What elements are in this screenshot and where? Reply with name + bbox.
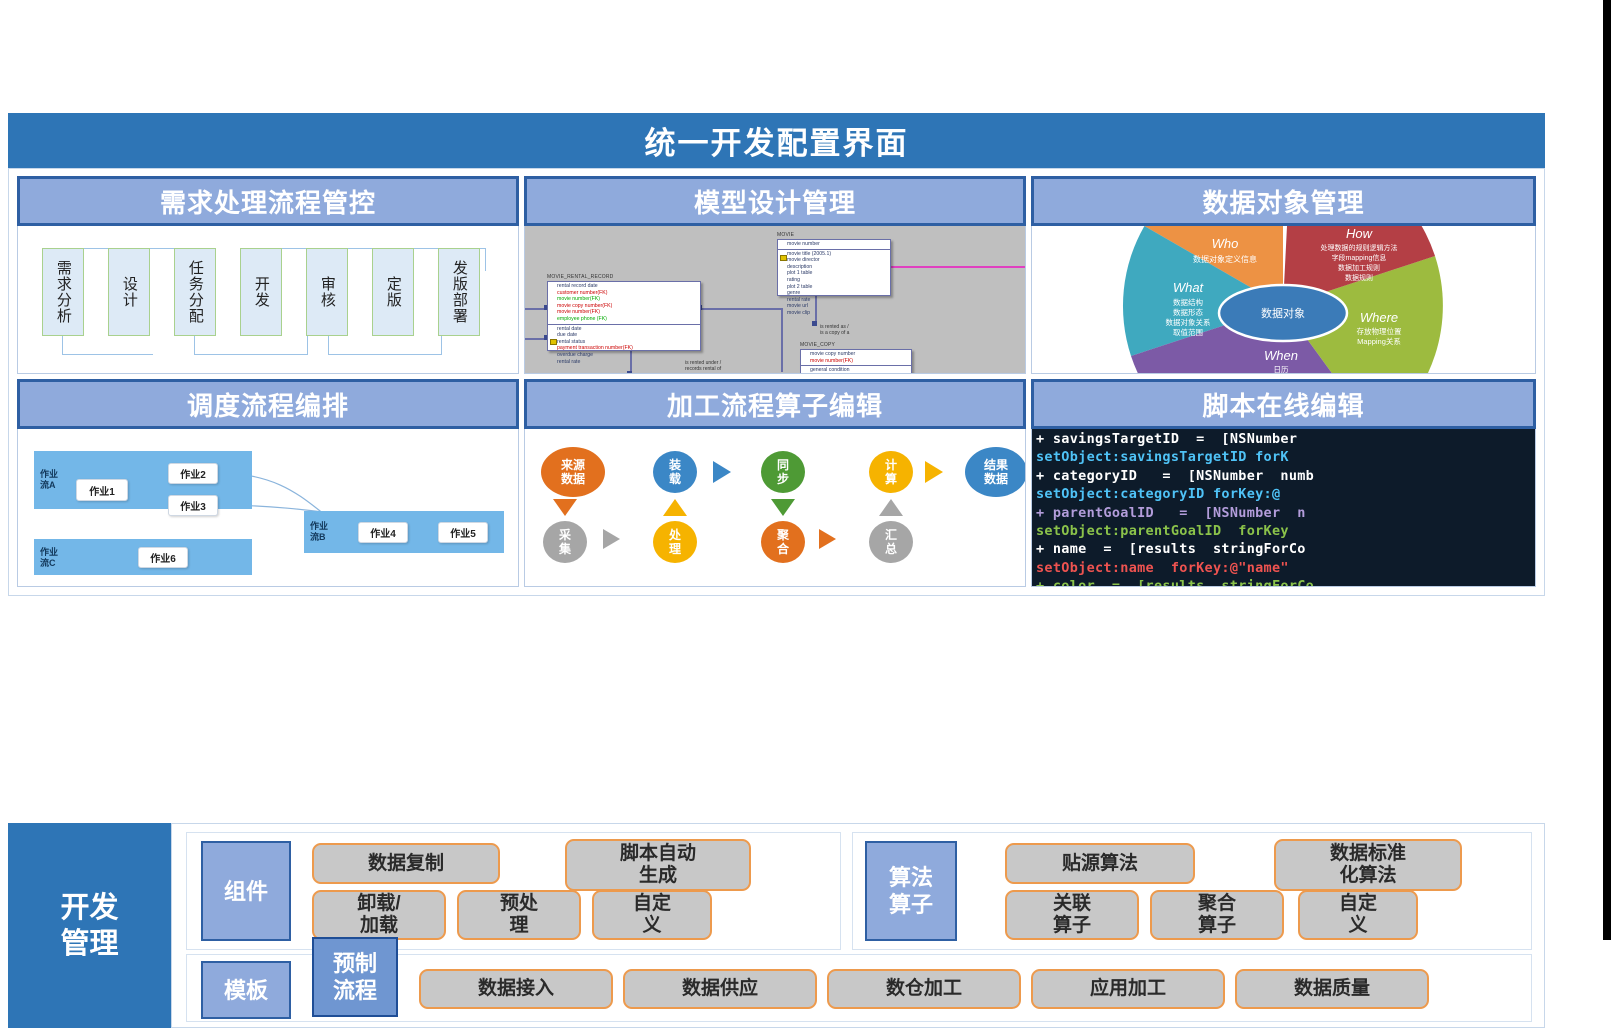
chip-data-ingest[interactable]: 数据接入 (419, 969, 613, 1009)
donut-label-what: What (1173, 280, 1205, 295)
op-arrow-right-yellow (925, 461, 943, 483)
chip-preprocess-label: 预处 理 (500, 893, 538, 937)
er-table-2-caption: MOVIE_COPY (800, 342, 835, 348)
chip-warehouse-process[interactable]: 数仓加工 (827, 969, 1021, 1009)
section-template: 模板 预制 流程 数据接入 数据供应 数仓加工 应用加工 数据 (186, 954, 1532, 1022)
category-algorithm[interactable]: 算法 算子 (865, 841, 957, 941)
chip-preprocess[interactable]: 预处 理 (457, 890, 581, 940)
flow-step-4-label: 审核 (319, 276, 335, 308)
donut-sub-what-2: 数据对象关系 (1166, 317, 1211, 327)
panel-script-edit[interactable]: 脚本在线编辑 + savingsTargetID = [NSNumber set… (1031, 379, 1536, 587)
panel-schedule-body: 作业 流A 作业1 作业2 作业3 作业 流B 作业4 作业5 作业 流C 作业… (17, 429, 519, 587)
donut-label-when: When (1264, 348, 1298, 363)
flow-step-3-label: 开发 (253, 276, 269, 308)
er-t0-f1: due date (548, 332, 700, 339)
code-line-8: + color = [results stringForCo (1032, 576, 1535, 586)
er-table-2[interactable]: movie copy number movie number(FK) gener… (800, 349, 912, 374)
chip-custom-operator[interactable]: 自定 义 (1298, 890, 1418, 940)
op-arrow-right-gray (603, 529, 620, 549)
donut-sub-how-3: 数据规则 (1345, 273, 1373, 282)
er-t0-k4: movie number(FK) (548, 309, 700, 316)
category-component-label: 组件 (224, 878, 268, 905)
job-flow-a-label: 作业 流A (40, 469, 58, 491)
panel-operator-edit-body: 来源 数据 装 载 同 步 计 算 结果 数据 采 集 处 理 聚 合 汇 总 (524, 429, 1026, 587)
er-t0-f4: overdue charge (548, 352, 700, 359)
flow-step-0[interactable]: 需求分析 (42, 248, 84, 336)
chip-warehouse-process-label: 数仓加工 (886, 978, 962, 1000)
er-table-1-caption: MOVIE (777, 232, 794, 238)
job-flow-b-label: 作业 流B (310, 521, 328, 543)
panel-model-design-title: 模型设计管理 (694, 183, 856, 220)
er-t1-f8: movie url (778, 303, 890, 310)
section-algorithm: 算法 算子 贴源算法 数据标准 化算法 关联 算子 聚合 算子 自定 义 (852, 832, 1532, 950)
page-title: 统一开发配置界面 (645, 118, 909, 163)
category-preset-flow-label: 预制 流程 (333, 950, 377, 1004)
chip-script-autogen-label: 脚本自动 生成 (620, 843, 696, 887)
category-template-label: 模板 (224, 977, 268, 1004)
panel-requirement-title: 需求处理流程管控 (160, 183, 376, 220)
job-flow-a[interactable] (34, 451, 252, 509)
unified-dev-config-frame: 统一开发配置界面 需求处理流程管控 (8, 113, 1545, 817)
op-node-summarize[interactable]: 汇 总 (869, 521, 913, 563)
panel-model-design-header: 模型设计管理 (524, 176, 1026, 226)
flow-step-6[interactable]: 发版部署 (438, 248, 480, 336)
op-node-process[interactable]: 处 理 (653, 521, 697, 563)
donut-label-how: How (1346, 226, 1374, 241)
op-arrow-down-green (771, 499, 795, 516)
page-title-bar: 统一开发配置界面 (8, 113, 1545, 168)
chip-app-process[interactable]: 应用加工 (1031, 969, 1225, 1009)
category-preset-flow[interactable]: 预制 流程 (312, 937, 398, 1017)
panel-requirement-body: 需求分析 设计 任务分配 开发 审核 定版 发版部署 (17, 226, 519, 374)
chip-standardize-algo[interactable]: 数据标准 化算法 (1274, 839, 1462, 891)
panel-requirement-header: 需求处理流程管控 (17, 176, 519, 226)
panel-schedule[interactable]: 调度流程编排 作业 流A 作业1 作业2 (17, 379, 519, 587)
er-t0-k1: customer number(FK) (548, 290, 700, 297)
er-t0-f0: rental date (548, 326, 700, 333)
code-line-7: setObject:name forKey:@"name" (1032, 558, 1535, 576)
section-component: 组件 数据复制 脚本自动 生成 卸载/ 加载 预处 理 自定 义 (186, 832, 841, 950)
flow-step-0-label: 需求分析 (55, 260, 71, 324)
right-black-bar (1603, 0, 1611, 940)
donut-center-label: 数据对象 (1261, 306, 1305, 320)
panel-schedule-title: 调度流程编排 (187, 386, 349, 423)
chip-source-algo[interactable]: 贴源算法 (1005, 843, 1195, 884)
job-node-3[interactable]: 作业3 (168, 495, 218, 516)
panel-data-object-title: 数据对象管理 (1202, 183, 1364, 220)
op-node-aggregate[interactable]: 聚 合 (761, 521, 805, 563)
er-note-0: is rented as / is a copy of a (820, 324, 849, 336)
donut-sub-when-0: 日历 (1274, 365, 1290, 374)
panel-requirement[interactable]: 需求处理流程管控 需求分析 设计 (17, 176, 519, 374)
chip-custom-operator-label: 自定 义 (1339, 893, 1377, 937)
donut-sub-how-1: 字段mapping信息 (1332, 253, 1387, 262)
chip-unload-load-label: 卸载/ 加载 (357, 893, 400, 937)
flow-step-5-label: 定版 (385, 276, 401, 308)
chip-custom-component-label: 自定 义 (633, 893, 671, 937)
panel-row-1: 需求处理流程管控 需求分析 设计 (17, 176, 1536, 374)
op-node-load[interactable]: 装 载 (653, 451, 697, 493)
panel-row-2: 调度流程编排 作业 流A 作业1 作业2 (17, 379, 1536, 587)
donut-sub-where-0: 存放物理位置 (1357, 326, 1402, 336)
er-t1-f3: plot 1 table (778, 270, 890, 277)
er-table-0-caption: MOVIE_RENTAL_RECORD (547, 274, 614, 280)
code-line-1: setObject:savingsTargetID forK (1032, 447, 1535, 465)
er-t0-k3: movie copy number(FK) (548, 303, 700, 310)
donut-sub-how-2: 数据加工规则 (1338, 263, 1380, 272)
er-t2-f0: general condition (801, 367, 911, 374)
op-node-sync[interactable]: 同 步 (761, 451, 805, 493)
panel-script-edit-header: 脚本在线编辑 (1031, 379, 1536, 429)
flow-step-4[interactable]: 审核 (306, 248, 348, 336)
chip-unload-load[interactable]: 卸载/ 加载 (312, 890, 446, 940)
er-endpoint-5 (627, 371, 632, 374)
flow-step-3[interactable]: 开发 (240, 248, 282, 336)
panel-data-object[interactable]: 数据对象管理 (1031, 176, 1536, 374)
chip-standardize-algo-label: 数据标准 化算法 (1330, 843, 1406, 887)
panel-script-edit-title: 脚本在线编辑 (1202, 386, 1364, 423)
code-line-3: setObject:categoryID forKey:@ (1032, 484, 1535, 502)
flow-step-1-label: 设计 (121, 276, 137, 308)
donut-svg: 数据对象 Who 数据对象定义信息 What 数据结构 数据形态 数据对象关系 … (1032, 226, 1535, 374)
op-node-result[interactable]: 结果 数据 (965, 447, 1026, 497)
er-diagram[interactable]: MOVIE_RENTAL_RECORD rental record date c… (525, 226, 1025, 373)
er-t0-f3: payment transaction number(FK) (548, 345, 700, 352)
op-arrow-right-orange (819, 529, 836, 549)
chip-join-operator-label: 关联 算子 (1053, 893, 1091, 937)
er-t0-f5: rental rate (548, 359, 700, 366)
donut-sub-what-0: 数据结构 (1173, 297, 1203, 307)
script-code-editor[interactable]: + savingsTargetID = [NSNumber setObject:… (1032, 429, 1535, 586)
chip-data-copy[interactable]: 数据复制 (312, 843, 500, 884)
chip-aggregate-operator-label: 聚合 算子 (1198, 893, 1236, 937)
op-arrow-up-yellow (663, 499, 687, 516)
flow-step-1[interactable]: 设计 (108, 248, 150, 336)
panel-operator-edit-title: 加工流程算子编辑 (667, 386, 883, 423)
data-object-donut-chart[interactable]: 数据对象 Who 数据对象定义信息 What 数据结构 数据形态 数据对象关系 … (1032, 226, 1535, 373)
er-t1-f6: genre (778, 290, 890, 297)
er-t0-k5: employee phone (FK) (548, 316, 700, 323)
panel-operator-edit[interactable]: 加工流程算子编辑 来源 数据 装 载 同 步 计 算 结果 数据 采 集 处 理… (524, 379, 1026, 587)
panel-operator-edit-header: 加工流程算子编辑 (524, 379, 1026, 429)
flow-connector-bot-3 (328, 336, 442, 355)
er-t0-k2: movie number(FK) (548, 296, 700, 303)
panel-model-design[interactable]: 模型设计管理 (524, 176, 1026, 374)
op-arrow-down-orange (553, 499, 577, 516)
chip-app-process-label: 应用加工 (1090, 978, 1166, 1000)
code-line-2: + categoryID = [NSNumber numb (1032, 466, 1535, 484)
job-node-5[interactable]: 作业5 (438, 522, 488, 543)
er-link-mid-v (781, 308, 783, 372)
job-node-2[interactable]: 作业2 (168, 463, 218, 484)
chip-source-algo-label: 贴源算法 (1062, 853, 1138, 875)
er-endpoint-4 (812, 321, 817, 326)
er-t0-k0: rental record date (548, 283, 700, 290)
er-link-mid-h (700, 308, 782, 310)
panel-script-edit-body: + savingsTargetID = [NSNumber setObject:… (1031, 429, 1536, 587)
er-note-1: is rented under / records rental of (685, 360, 721, 372)
er-t2-k0: movie copy number (801, 351, 911, 358)
job-node-4[interactable]: 作业4 (358, 522, 408, 543)
donut-label-where: Where (1360, 310, 1398, 325)
code-line-0: + savingsTargetID = [NSNumber (1032, 429, 1535, 447)
donut-sub-where-1: Mapping关系 (1357, 336, 1401, 346)
donut-sub-what-1: 数据形态 (1173, 307, 1203, 317)
job-node-6[interactable]: 作业6 (138, 547, 188, 568)
er-t1-f7: rental rate (778, 297, 890, 304)
op-node-source[interactable]: 来源 数据 (541, 447, 605, 497)
panel-schedule-header: 调度流程编排 (17, 379, 519, 429)
job-node-1[interactable]: 作业1 (76, 479, 128, 501)
requirement-flow-diagram: 需求分析 设计 任务分配 开发 审核 定版 发版部署 (18, 226, 518, 373)
op-node-compute[interactable]: 计 算 (869, 451, 913, 493)
chip-custom-component[interactable]: 自定 义 (592, 890, 712, 940)
er-t1-f9: movie clip (778, 310, 890, 317)
donut-sub-who-0: 数据对象定义信息 (1193, 254, 1257, 264)
chip-aggregate-operator[interactable]: 聚合 算子 (1150, 890, 1284, 940)
chip-data-supply[interactable]: 数据供应 (623, 969, 817, 1009)
op-arrow-right-blue (713, 461, 731, 483)
er-t2-k1: movie number(FK) (801, 358, 911, 365)
right-white-strip (1595, 0, 1603, 940)
chip-data-quality-label: 数据质量 (1294, 978, 1370, 1000)
er-table-0[interactable]: rental record date customer number(FK) m… (547, 281, 701, 351)
donut-sub-what-3: 取值范围 (1173, 327, 1203, 337)
chip-data-copy-label: 数据复制 (368, 853, 444, 875)
flow-connector-bot-2 (194, 336, 308, 355)
flow-step-6-label: 发版部署 (451, 260, 467, 324)
donut-label-who: Who (1212, 236, 1239, 251)
code-line-5: setObject:parentGoalID forKey (1032, 521, 1535, 539)
er-t1-f1: movie director (778, 257, 890, 264)
er-t1-f5: plot 2 table (778, 284, 890, 291)
category-algorithm-label: 算法 算子 (889, 864, 933, 918)
dev-management-sidebar[interactable]: 开发 管理 (8, 823, 171, 1028)
panel-data-object-body: 数据对象 Who 数据对象定义信息 What 数据结构 数据形态 数据对象关系 … (1031, 226, 1536, 374)
er-t1-f0: movie title (2005.1) (778, 251, 890, 258)
dev-management-content: 组件 数据复制 脚本自动 生成 卸载/ 加载 预处 理 自定 义 (171, 823, 1545, 1028)
flow-step-5[interactable]: 定版 (372, 248, 414, 336)
panel-data-object-header: 数据对象管理 (1031, 176, 1536, 226)
category-component[interactable]: 组件 (201, 841, 291, 941)
panels-board: 需求处理流程管控 需求分析 设计 (8, 168, 1545, 596)
slide-canvas: 统一开发配置界面 需求处理流程管控 (0, 0, 1611, 940)
chip-join-operator[interactable]: 关联 算子 (1005, 890, 1139, 940)
chip-data-quality[interactable]: 数据质量 (1235, 969, 1429, 1009)
code-line-6: + name = [results stringForCo (1032, 539, 1535, 557)
flow-step-2[interactable]: 任务分配 (174, 248, 216, 336)
donut-sub-how-0: 处理数据的规则逻辑方法 (1321, 243, 1398, 252)
chip-script-autogen[interactable]: 脚本自动 生成 (565, 839, 751, 891)
op-node-collect[interactable]: 采 集 (543, 521, 587, 563)
er-t1-f2: description (778, 264, 890, 271)
chip-data-supply-label: 数据供应 (682, 978, 758, 1000)
op-arrow-up-gray (879, 499, 903, 516)
er-table-1[interactable]: movie number movie title (2005.1) movie … (777, 239, 891, 296)
panel-model-design-body: MOVIE_RENTAL_RECORD rental record date c… (524, 226, 1026, 374)
er-t1-k0: movie number (778, 241, 890, 248)
flow-connector-bot-1 (62, 336, 153, 355)
dev-management: 开发 管理 组件 数据复制 脚本自动 生成 卸载/ 加载 预处 理 (8, 823, 1545, 1028)
er-t0-f2: rental status (548, 339, 700, 346)
code-line-4: + parentGoalID = [NSNumber n (1032, 503, 1535, 521)
flow-step-2-label: 任务分配 (187, 260, 203, 324)
dev-management-sidebar-label: 开发 管理 (60, 890, 118, 962)
chip-data-ingest-label: 数据接入 (478, 978, 554, 1000)
job-flow-c-label: 作业 流C (40, 547, 58, 569)
er-t1-f4: rating (778, 277, 890, 284)
category-template[interactable]: 模板 (201, 961, 291, 1019)
